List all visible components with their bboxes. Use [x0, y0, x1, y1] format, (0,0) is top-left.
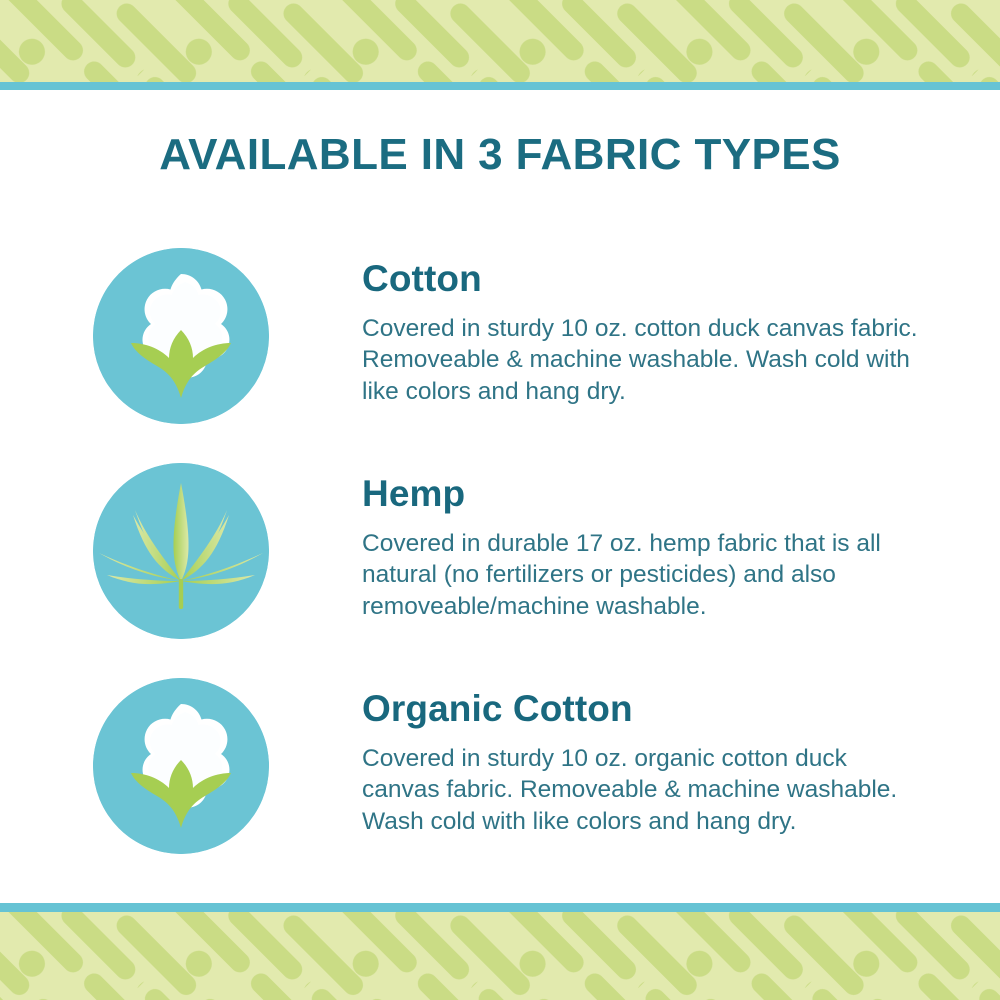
fabric-description-hemp: Covered in durable 17 oz. hemp fabric th…: [362, 528, 922, 622]
bottom-decorative-border: [0, 903, 1000, 1000]
fabric-text-cell: Organic Cotton Covered in sturdy 10 oz. …: [362, 676, 1000, 837]
fabric-description-cotton: Covered in sturdy 10 oz. cotton duck can…: [362, 313, 922, 407]
fabric-title-organic-cotton: Organic Cotton: [362, 690, 940, 729]
top-stripe-pattern: [0, 0, 1000, 82]
stripe-pattern-svg: [0, 912, 1000, 1000]
fabric-icon-cell: [0, 461, 362, 639]
fabric-title-hemp: Hemp: [362, 475, 940, 514]
stripe-pattern-svg: [0, 0, 1000, 82]
fabric-title-cotton: Cotton: [362, 260, 940, 299]
top-teal-rule: [0, 82, 1000, 90]
fabric-description-organic-cotton: Covered in sturdy 10 oz. organic cotton …: [362, 743, 907, 837]
hemp-leaf-icon: [93, 463, 269, 639]
fabric-row-organic-cotton: Organic Cotton Covered in sturdy 10 oz. …: [0, 676, 1000, 876]
fabric-row-hemp: Hemp Covered in durable 17 oz. hemp fabr…: [0, 461, 1000, 676]
fabric-icon-cell: [0, 246, 362, 424]
fabric-text-cell: Hemp Covered in durable 17 oz. hemp fabr…: [362, 461, 1000, 622]
cotton-boll-icon: [93, 678, 269, 854]
top-decorative-border: [0, 0, 1000, 90]
bottom-teal-rule: [0, 903, 1000, 912]
page-title: AVAILABLE IN 3 FABRIC TYPES: [0, 131, 1000, 179]
fabric-types-infographic: AVAILABLE IN 3 FABRIC TYPES Cotton Cover…: [0, 0, 1000, 1000]
bottom-stripe-pattern: [0, 912, 1000, 1000]
fabric-row-cotton: Cotton Covered in sturdy 10 oz. cotton d…: [0, 246, 1000, 461]
fabric-icon-cell: [0, 676, 362, 854]
fabric-list: Cotton Covered in sturdy 10 oz. cotton d…: [0, 246, 1000, 876]
cotton-boll-icon: [93, 248, 269, 424]
fabric-text-cell: Cotton Covered in sturdy 10 oz. cotton d…: [362, 246, 1000, 407]
